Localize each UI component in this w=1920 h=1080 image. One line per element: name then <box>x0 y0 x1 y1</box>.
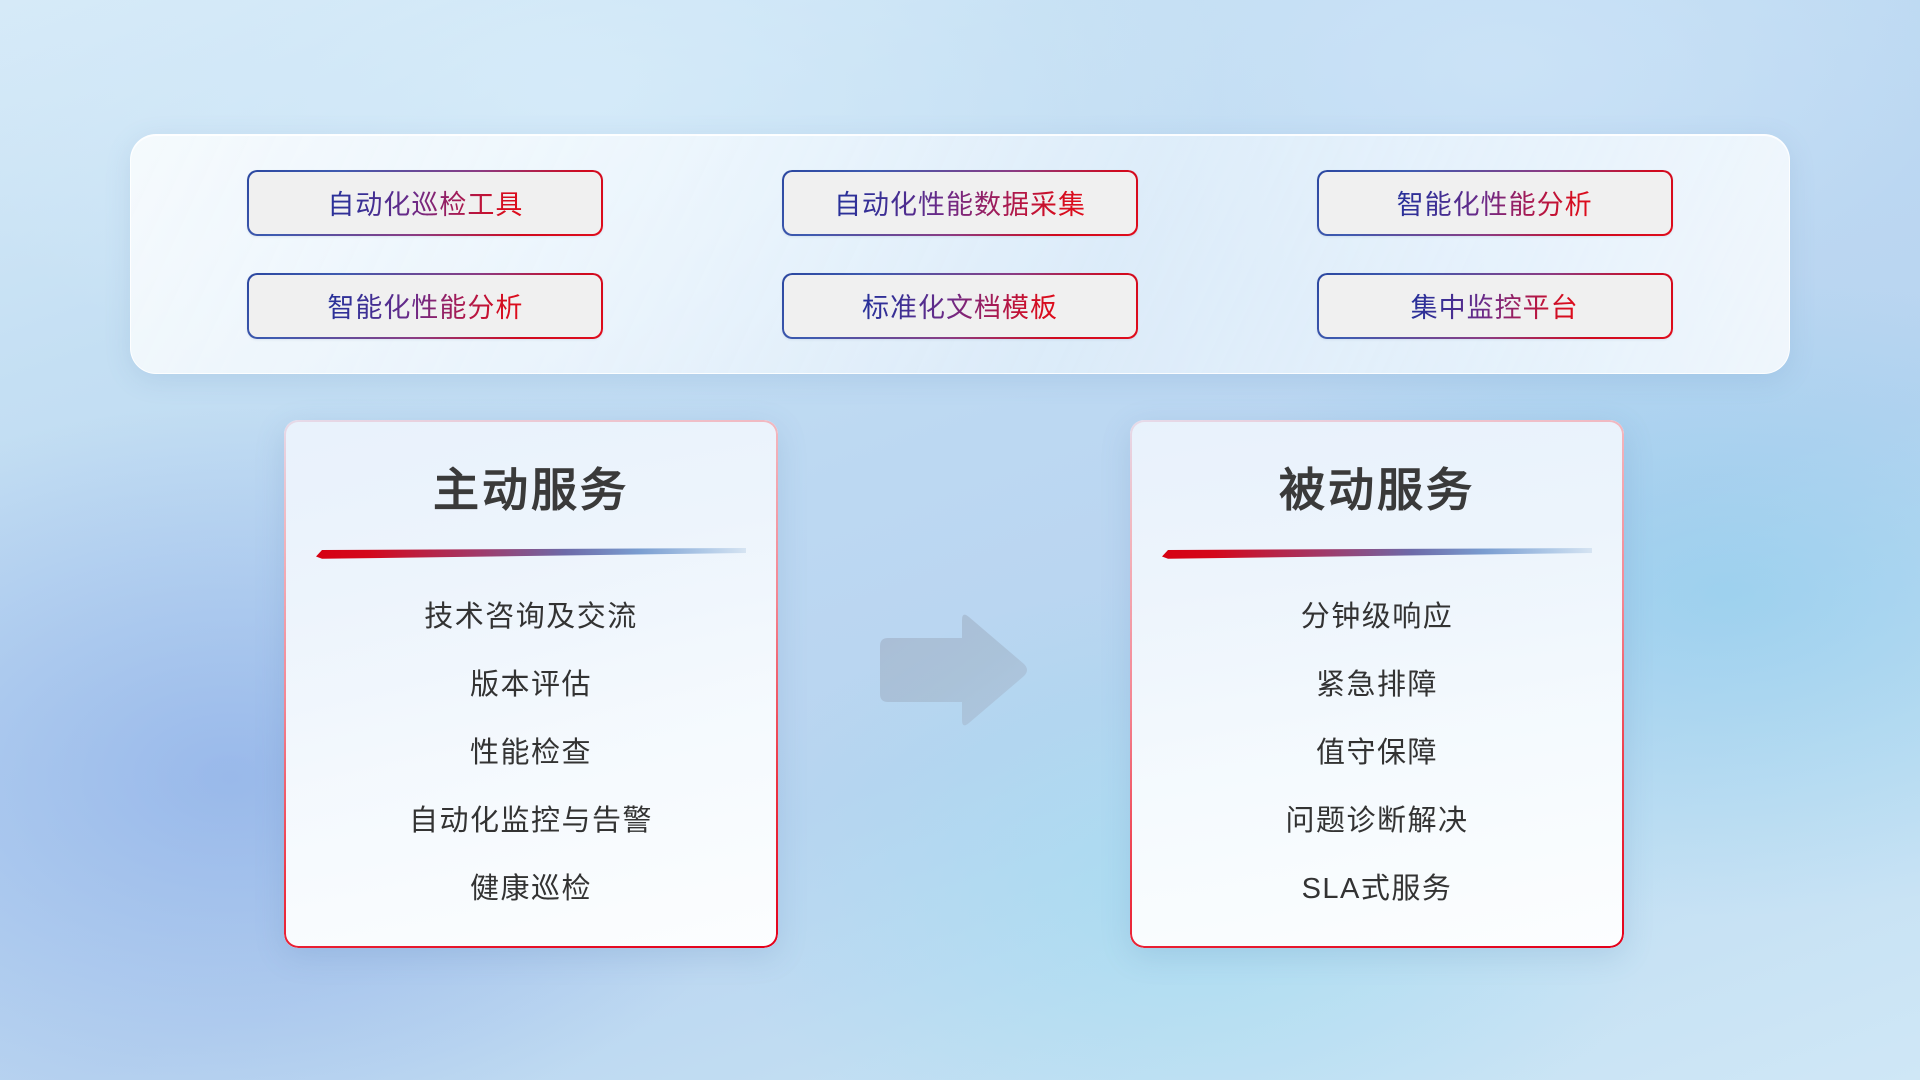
card-divider-icon <box>1162 546 1592 559</box>
capability-pill[interactable]: 自动化巡检工具 <box>247 170 603 236</box>
capability-pill-label: 智能化性能分析 <box>327 286 523 325</box>
service-card-reactive: 被动服务 分钟级响应 紧急排障 值守保障 问题诊断解决 SLA式服务 <box>1130 420 1624 948</box>
list-item: 值守保障 <box>1316 729 1438 771</box>
card-divider-icon <box>316 546 746 559</box>
capability-pill[interactable]: 智能化性能分析 <box>247 273 603 339</box>
service-card-list: 技术咨询及交流 版本评估 性能检查 自动化监控与告警 健康巡检 <box>284 593 778 907</box>
list-item: 问题诊断解决 <box>1285 797 1468 839</box>
list-item: 分钟级响应 <box>1301 593 1454 635</box>
list-item: 技术咨询及交流 <box>424 593 638 635</box>
capability-pill[interactable]: 自动化性能数据采集 <box>782 170 1138 236</box>
capability-pill-label: 智能化性能分析 <box>1397 183 1593 222</box>
list-item: SLA式服务 <box>1302 865 1453 907</box>
list-item: 自动化监控与告警 <box>409 797 653 839</box>
service-card-title: 主动服务 <box>284 454 778 520</box>
capability-pill-label: 自动化巡检工具 <box>327 183 523 222</box>
arrow-right-icon <box>872 610 1030 730</box>
capability-pill-label: 集中监控平台 <box>1411 286 1579 325</box>
service-card-proactive: 主动服务 技术咨询及交流 版本评估 性能检查 自动化监控与告警 健康巡检 <box>284 420 778 948</box>
capability-pill[interactable]: 集中监控平台 <box>1317 273 1673 339</box>
capability-pill-label: 自动化性能数据采集 <box>834 183 1086 222</box>
list-item: 健康巡检 <box>470 865 592 907</box>
list-item: 紧急排障 <box>1316 661 1438 703</box>
list-item: 性能检查 <box>470 729 592 771</box>
capability-pill[interactable]: 智能化性能分析 <box>1317 170 1673 236</box>
capability-pill[interactable]: 标准化文档模板 <box>782 273 1138 339</box>
service-card-list: 分钟级响应 紧急排障 值守保障 问题诊断解决 SLA式服务 <box>1130 593 1624 907</box>
capabilities-panel: 自动化巡检工具 自动化性能数据采集 智能化性能分析 智能化性能分析 标准化文档模… <box>130 134 1790 374</box>
capability-pill-label: 标准化文档模板 <box>862 286 1058 325</box>
list-item: 版本评估 <box>470 661 592 703</box>
service-card-title: 被动服务 <box>1130 454 1624 520</box>
